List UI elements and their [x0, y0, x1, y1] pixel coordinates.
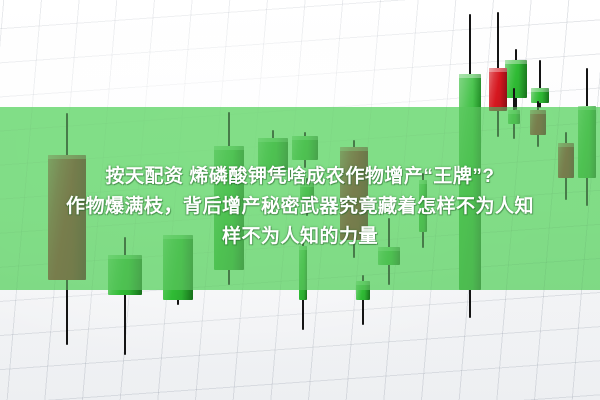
headline-line-1: 按天配资 烯磷酸钾凭啥成农作物增产“王牌”? [0, 162, 600, 192]
headline-text: 按天配资 烯磷酸钾凭啥成农作物增产“王牌”? 作物爆满枝，背后增产秘密武器究竟藏… [0, 162, 600, 252]
candle-body [489, 68, 507, 111]
banner-image: 按天配资 烯磷酸钾凭啥成农作物增产“王牌”? 作物爆满枝，背后增产秘密武器究竟藏… [0, 0, 600, 400]
headline-line-2: 作物爆满枝，背后增产秘密武器究竟藏着怎样不为人知 [0, 192, 600, 222]
candle-body [531, 88, 549, 103]
candle-body [505, 60, 527, 98]
headline-line-3: 样不为人知的力量 [0, 222, 600, 252]
